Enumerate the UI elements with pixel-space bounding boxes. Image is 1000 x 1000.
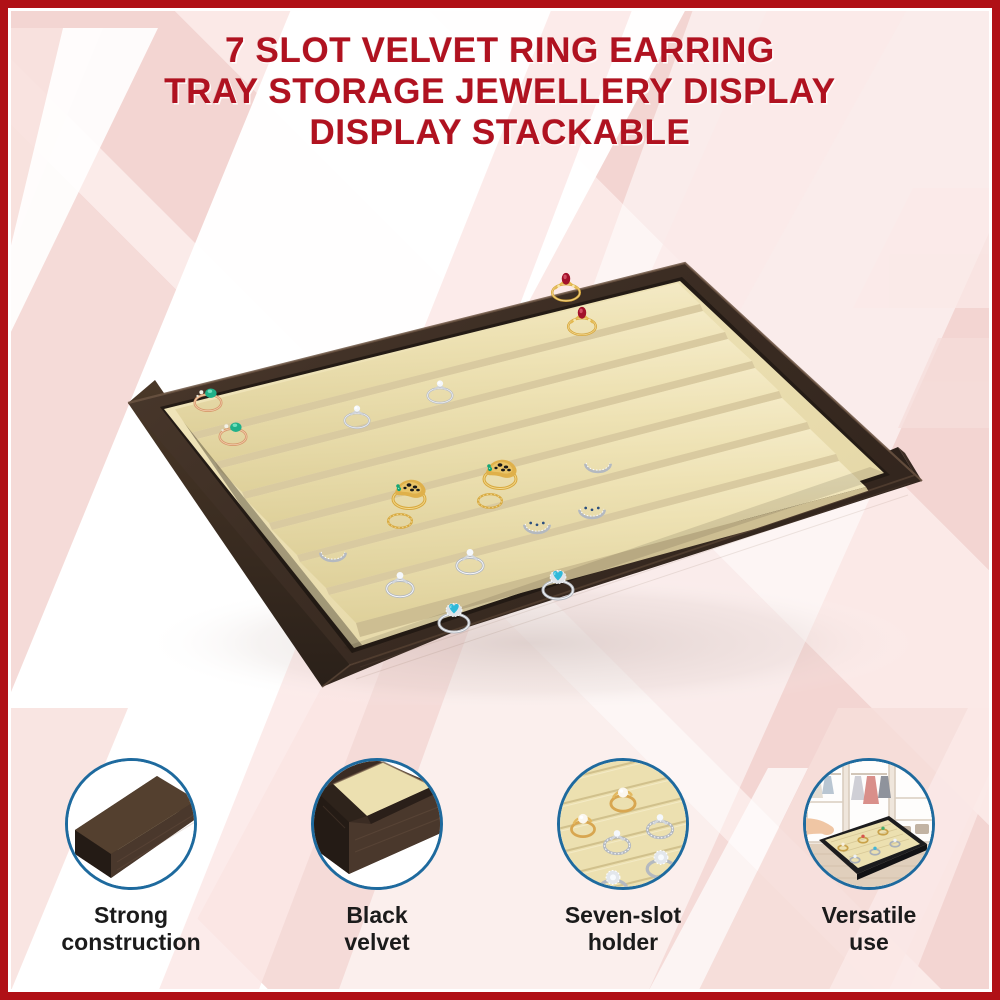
feature-highlights: Strong construction	[8, 758, 992, 968]
feature-strong-construction: Strong construction	[16, 758, 246, 956]
feature-caption-1: Strong construction	[61, 902, 200, 956]
feature-seven-slot-holder: Seven-slot holder	[508, 758, 738, 956]
product-listing-image: 7 SLOT VELVET RING EARRING TRAY STORAGE …	[0, 0, 1000, 1000]
title-line-1: 7 SLOT VELVET RING EARRING	[0, 30, 1000, 71]
feature-caption-3: Seven-slot holder	[565, 902, 681, 956]
feature-black-velvet: Black velvet	[262, 758, 492, 956]
title-line-2: TRAY STORAGE JEWELLERY DISPLAY	[0, 71, 1000, 112]
feature-versatile-use: Versatile use	[754, 758, 984, 956]
velvet-corner-closeup-thumbnail	[311, 758, 443, 890]
hero-product-image	[60, 175, 950, 705]
seven-slot-rings-thumbnail	[557, 758, 689, 890]
feature-caption-2: Black velvet	[344, 902, 409, 956]
title-line-3: DISPLAY STACKABLE	[0, 112, 1000, 153]
feature-caption-4: Versatile use	[822, 902, 917, 956]
hand-holding-tray-wardrobe-thumbnail	[803, 758, 935, 890]
product-title: 7 SLOT VELVET RING EARRING TRAY STORAGE …	[0, 30, 1000, 153]
tray-corner-closeup-thumbnail	[65, 758, 197, 890]
